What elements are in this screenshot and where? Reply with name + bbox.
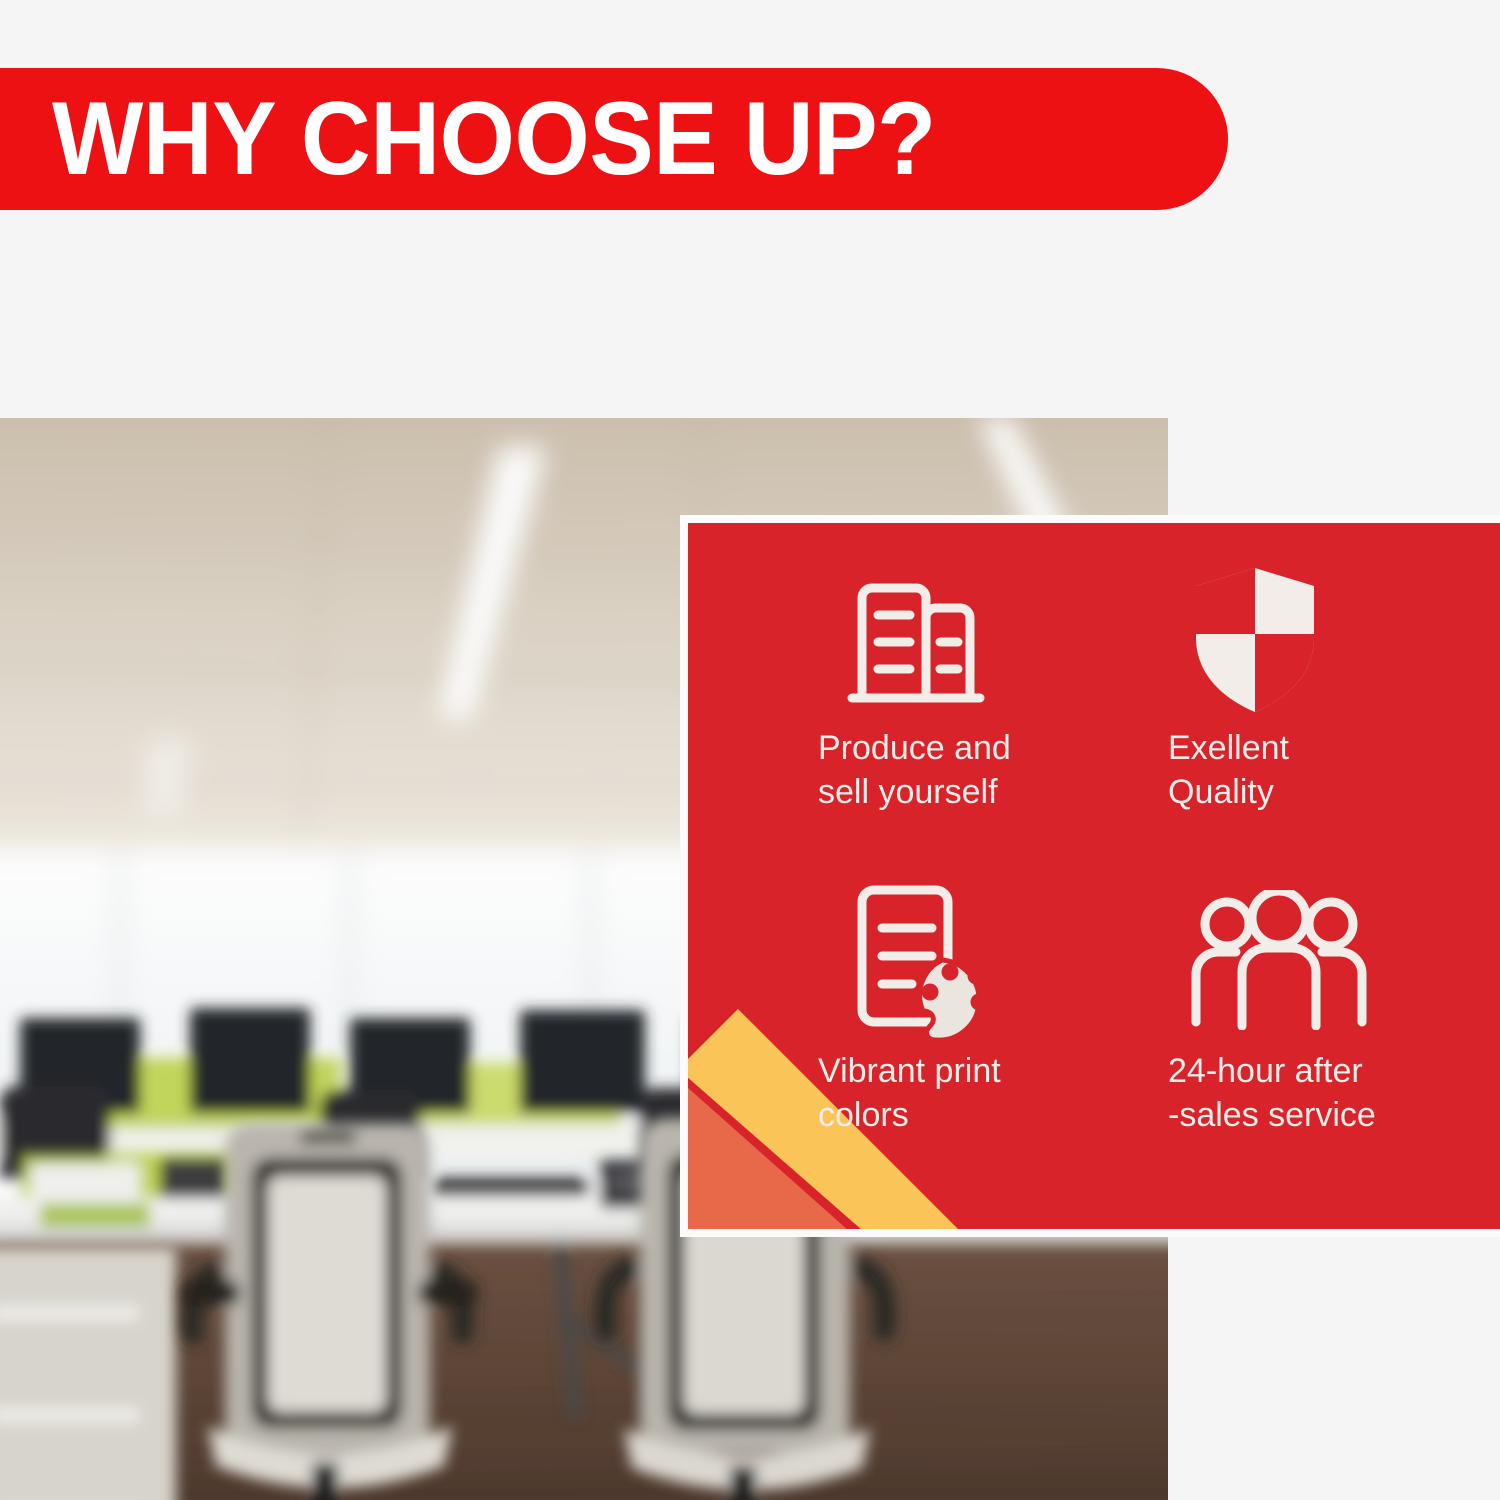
feature-grid: Produce and sell yourself <box>688 523 1500 1229</box>
feature-label: Vibrant print colors <box>818 1050 1001 1137</box>
shield-icon <box>1190 565 1320 715</box>
feature-item-vibrant-colors: Vibrant print colors <box>818 880 1168 1195</box>
feature-label: Produce and sell yourself <box>818 727 1011 814</box>
header-banner: WHY CHOOSE UP? <box>0 68 1228 210</box>
feature-item-produce-sell: Produce and sell yourself <box>818 565 1168 880</box>
feature-item-after-sales: 24-hour after -sales service <box>1168 880 1500 1195</box>
page-title: WHY CHOOSE UP? <box>52 87 936 191</box>
buildings-icon <box>840 565 988 715</box>
feature-item-quality: Exellent Quality <box>1168 565 1500 880</box>
feature-label: Exellent Quality <box>1168 727 1289 814</box>
people-group-icon <box>1190 880 1368 1040</box>
feature-label: 24-hour after -sales service <box>1168 1050 1376 1137</box>
document-palette-icon <box>840 880 988 1040</box>
feature-panel: Produce and sell yourself <box>680 515 1500 1237</box>
